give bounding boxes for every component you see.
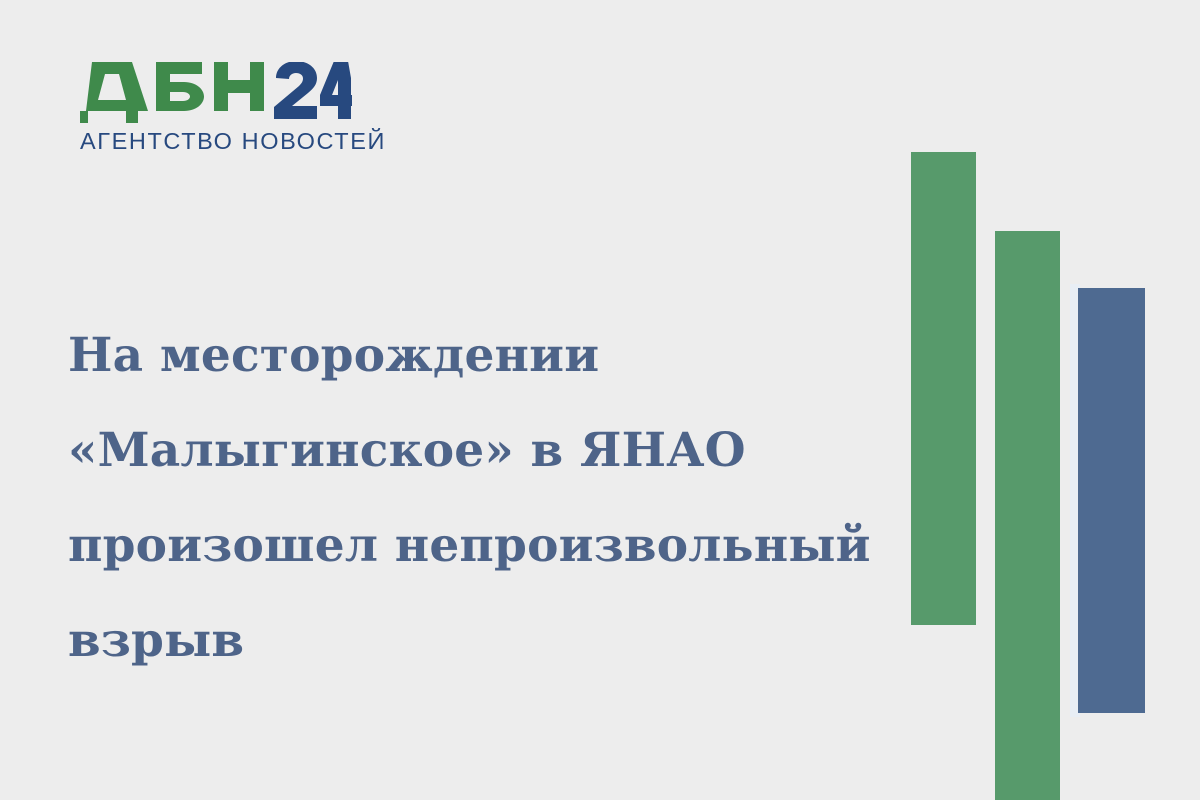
logo-wordmark-icon: [80, 62, 352, 124]
chart-bar-3: [1078, 288, 1145, 713]
news-card: АГЕНТСТВО НОВОСТЕЙ На месторождении «Мал…: [0, 0, 1200, 800]
headline-line-4: взрыв: [68, 593, 888, 688]
chart-bar-1: [911, 152, 976, 625]
headline: На месторождении «Малыгинское» в ЯНАО пр…: [68, 308, 888, 688]
headline-line-2: «Малыгинское» в ЯНАО: [68, 403, 888, 498]
headline-line-1: На месторождении: [68, 308, 888, 403]
brand-logo[interactable]: АГЕНТСТВО НОВОСТЕЙ: [80, 62, 370, 162]
bar-3-halo: [1070, 284, 1080, 717]
logo-tagline: АГЕНТСТВО НОВОСТЕЙ: [80, 130, 370, 154]
chart-bar-2: [995, 231, 1060, 800]
headline-line-3: произошел непроизвольный: [68, 498, 888, 593]
